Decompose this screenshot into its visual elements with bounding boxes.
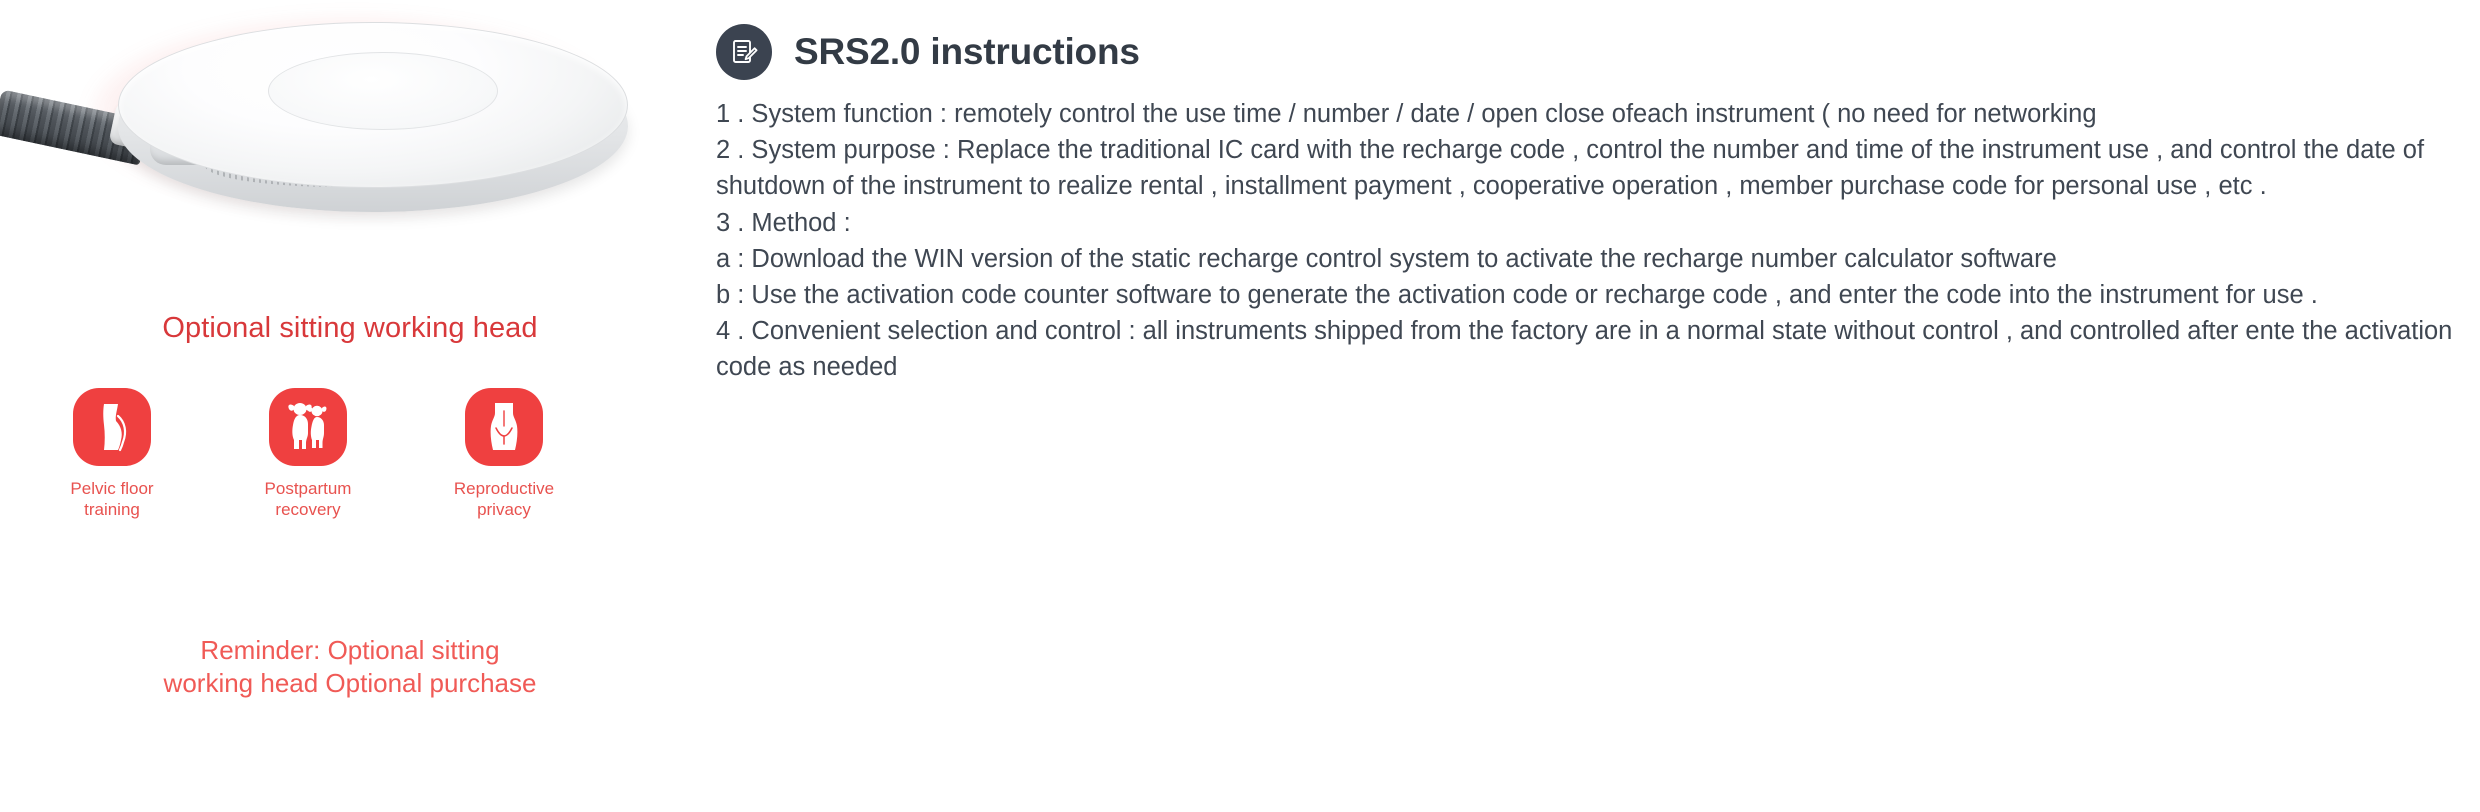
feature-label: Pelvic floor training: [70, 478, 153, 521]
document-with-pencil-icon: [716, 24, 772, 80]
instructions-body: 1 . System function : remotely control t…: [716, 96, 2460, 386]
feature-item-reproductive-privacy[interactable]: Reproductive privacy: [406, 388, 602, 521]
instruction-paragraph: 1 . System function : remotely control t…: [716, 96, 2460, 132]
instruction-paragraph: b : Use the activation code counter soft…: [716, 277, 2460, 313]
page-title: SRS2.0 instructions: [794, 31, 1140, 73]
product-instructions-page: Optional sitting working head Pelvic flo…: [0, 0, 2480, 812]
product-caption: Optional sitting working head: [0, 312, 700, 345]
feature-item-postpartum-recovery[interactable]: Postpartum recovery: [210, 388, 406, 521]
reminder-text: Reminder: Optional sitting working head …: [0, 634, 700, 701]
sitting-working-head-product-photo: [0, 0, 700, 300]
instruction-paragraph: 2 . System purpose : Replace the traditi…: [716, 132, 2460, 204]
left-product-panel: Optional sitting working head Pelvic flo…: [0, 0, 700, 812]
instruction-paragraph: 4 . Convenient selection and control : a…: [716, 313, 2460, 385]
feature-label: Reproductive privacy: [454, 478, 554, 521]
female-torso-icon: [465, 388, 543, 466]
instruction-paragraph: a : Download the WIN version of the stat…: [716, 241, 2460, 277]
mother-and-child-icon: [269, 388, 347, 466]
treatment-head-inner-ring: [268, 52, 498, 130]
instructions-panel: SRS2.0 instructions 1 . System function …: [700, 0, 2480, 812]
feature-icon-row: Pelvic floor training: [0, 388, 700, 521]
instruction-paragraph: 3 . Method :: [716, 205, 2460, 241]
feature-label: Postpartum recovery: [265, 478, 352, 521]
feature-item-pelvic-floor-training[interactable]: Pelvic floor training: [14, 388, 210, 521]
pelvic-floor-body-profile-icon: [73, 388, 151, 466]
instructions-header: SRS2.0 instructions: [716, 24, 2460, 80]
